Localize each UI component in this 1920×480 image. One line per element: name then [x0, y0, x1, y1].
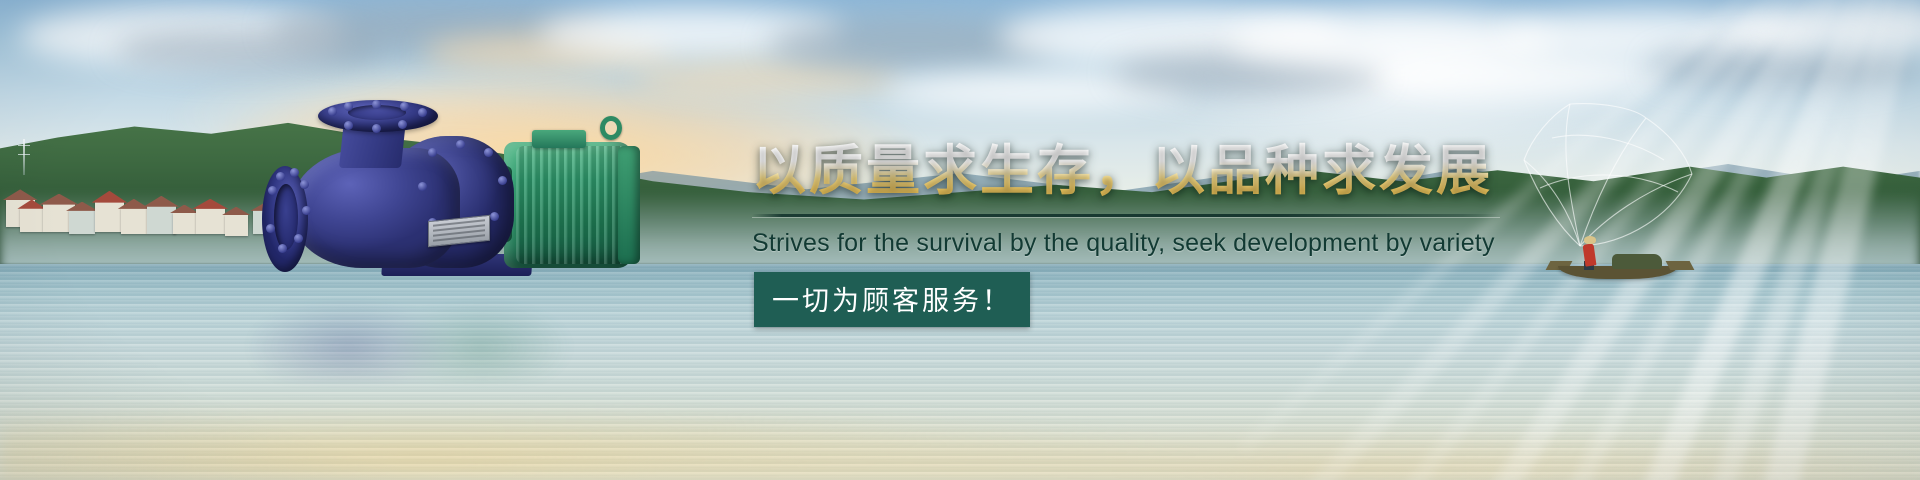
flange-bolt [344, 121, 353, 130]
flange-bolt [400, 102, 409, 111]
flange-bolt [418, 108, 427, 117]
village-house [196, 208, 225, 233]
village-house [20, 208, 43, 231]
village-house [173, 213, 196, 234]
flange-bolt [484, 148, 493, 157]
service-slogan-badge: 一切为顾客服务！ [754, 272, 1030, 327]
fishing-boat [1540, 228, 1710, 298]
headline-divider [752, 214, 1500, 217]
fisherman-hat [1584, 236, 1596, 244]
village-house [147, 206, 176, 233]
flange-bolt [398, 120, 407, 129]
hero-banner: 以质量求生存，以品种求发展 Strives for the survival b… [0, 0, 1920, 480]
village-house [69, 210, 95, 233]
cloud [1382, 56, 1670, 98]
boat-cargo [1612, 254, 1662, 269]
village-house [121, 208, 147, 233]
centrifugal-pump [232, 96, 632, 296]
flange-bolt [278, 244, 287, 253]
banner-subheadline: Strives for the survival by the quality,… [752, 229, 1512, 258]
flange-bolt [372, 124, 381, 133]
flange-bolt [290, 168, 299, 177]
motor-terminal-box [532, 130, 586, 148]
flange-bolt [344, 102, 353, 111]
flange-bolt [428, 148, 437, 157]
flange-bolt [268, 186, 277, 195]
flange-bolt [276, 172, 285, 181]
motor-cooling-fins [516, 146, 628, 264]
fisherman-body [1583, 243, 1597, 266]
flange-bolt [498, 176, 507, 185]
banner-headline: 以质量求生存，以品种求发展 [752, 140, 1512, 204]
boat-stern [1666, 261, 1695, 270]
flange-bolt [266, 224, 275, 233]
power-pylon [23, 139, 25, 175]
flange-bolt [328, 107, 337, 116]
flange-bolt [302, 206, 311, 215]
flange-bolt [294, 234, 303, 243]
motor-end-cap [618, 146, 640, 264]
motor-lifting-eye-icon [600, 116, 622, 140]
banner-copy: 以质量求生存，以品种求发展 Strives for the survival b… [752, 140, 1512, 327]
flange-bolt [418, 182, 427, 191]
flange-bolt [300, 180, 309, 189]
flange-bolt [456, 140, 465, 149]
village-house [95, 202, 124, 232]
flange-bolt [372, 100, 381, 109]
flange-bolt [490, 212, 499, 221]
